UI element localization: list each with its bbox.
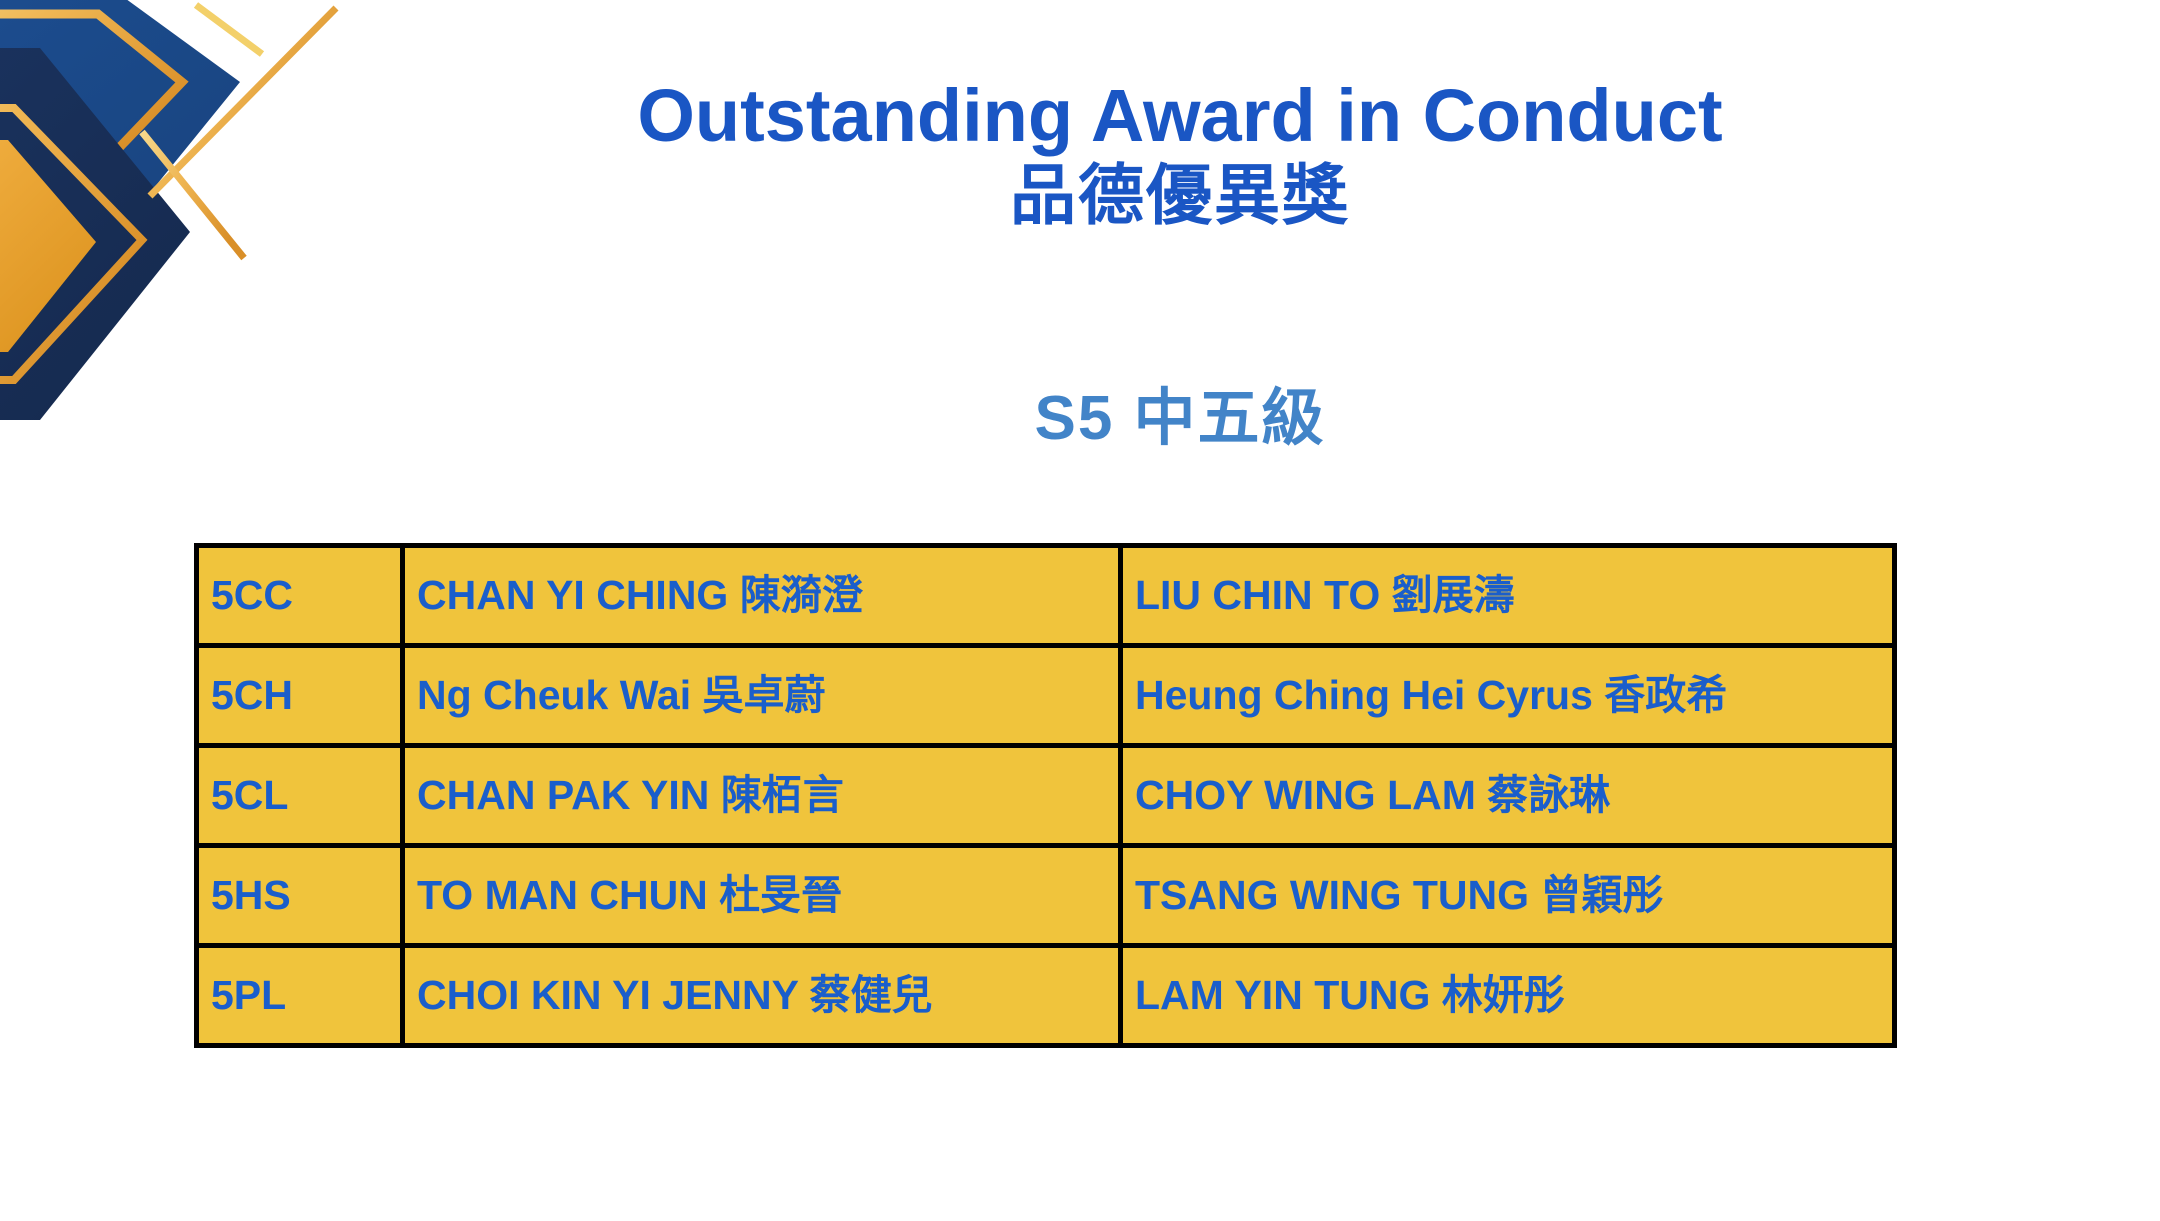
title-block: Outstanding Award in Conduct 品德優異獎	[330, 78, 2030, 235]
awards-table: 5CCCHAN YI CHING 陳漪澄LIU CHIN TO 劉展濤5CHNg…	[194, 543, 1897, 1048]
class-cell: 5CH	[197, 646, 403, 746]
awardee-name-cell: TSANG WING TUNG 曾穎彤	[1121, 846, 1895, 946]
page-title-english: Outstanding Award in Conduct	[330, 78, 2030, 155]
deco-gold-line-lower	[0, 108, 142, 380]
awardee-name-cell: CHOY WING LAM 蔡詠琳	[1121, 746, 1895, 846]
deco-gold-chevron-fill	[0, 140, 96, 352]
table-row: 5PLCHOI KIN YI JENNY 蔡健兒LAM YIN TUNG 林妍彤	[197, 946, 1895, 1046]
deco-navy-light-chevron	[0, 0, 240, 305]
slide-canvas: Outstanding Award in Conduct 品德優異獎 S5 中五…	[0, 0, 2160, 1221]
deco-gold-line-upper	[0, 8, 182, 172]
awardee-name-cell: Heung Ching Hei Cyrus 香政希	[1121, 646, 1895, 746]
awardee-name-cell: LAM YIN TUNG 林妍彤	[1121, 946, 1895, 1046]
grade-level-subtitle: S5 中五級	[330, 385, 2030, 453]
awardee-name-cell: CHAN YI CHING 陳漪澄	[403, 546, 1121, 646]
awardee-name-cell: Ng Cheuk Wai 吳卓蔚	[403, 646, 1121, 746]
class-cell: 5HS	[197, 846, 403, 946]
class-cell: 5CC	[197, 546, 403, 646]
awards-table-body: 5CCCHAN YI CHING 陳漪澄LIU CHIN TO 劉展濤5CHNg…	[197, 546, 1895, 1046]
subtitle-block: S5 中五級	[330, 385, 2030, 453]
deco-navy-dark-chevron	[0, 48, 190, 420]
deco-gold-diagonals	[142, 5, 336, 258]
awardee-name-cell: CHAN PAK YIN 陳栢言	[403, 746, 1121, 846]
class-cell: 5PL	[197, 946, 403, 1046]
awards-table-container: 5CCCHAN YI CHING 陳漪澄LIU CHIN TO 劉展濤5CHNg…	[194, 543, 1892, 1048]
chevron-corner-decoration-icon	[0, 0, 340, 450]
table-row: 5CHNg Cheuk Wai 吳卓蔚Heung Ching Hei Cyrus…	[197, 646, 1895, 746]
awardee-name-cell: LIU CHIN TO 劉展濤	[1121, 546, 1895, 646]
awardee-name-cell: TO MAN CHUN 杜旻晉	[403, 846, 1121, 946]
table-row: 5CLCHAN PAK YIN 陳栢言CHOY WING LAM 蔡詠琳	[197, 746, 1895, 846]
table-row: 5CCCHAN YI CHING 陳漪澄LIU CHIN TO 劉展濤	[197, 546, 1895, 646]
awardee-name-cell: CHOI KIN YI JENNY 蔡健兒	[403, 946, 1121, 1046]
page-title-chinese: 品德優異獎	[330, 155, 2030, 236]
class-cell: 5CL	[197, 746, 403, 846]
table-row: 5HSTO MAN CHUN 杜旻晉TSANG WING TUNG 曾穎彤	[197, 846, 1895, 946]
